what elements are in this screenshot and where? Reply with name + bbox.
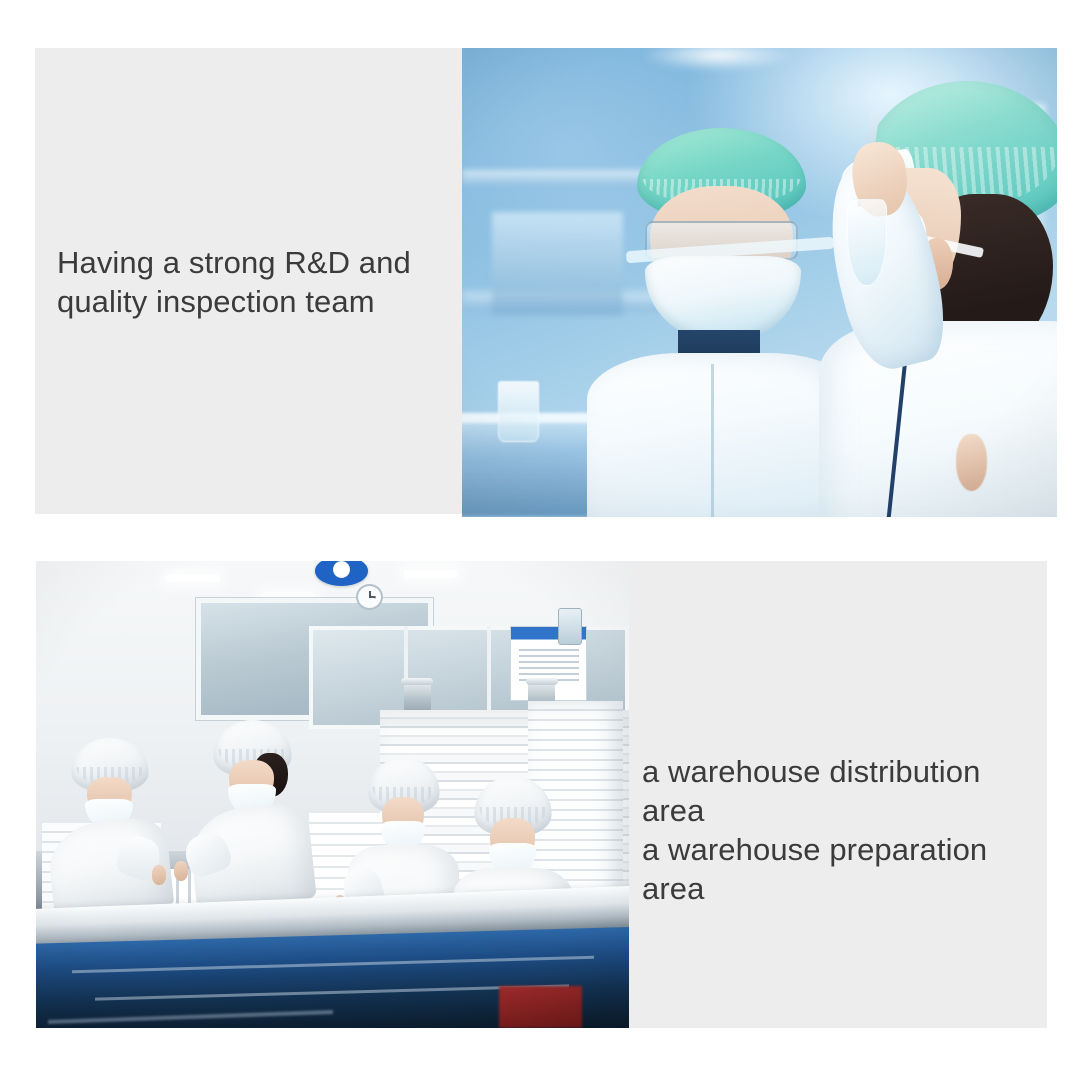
warehouse-areas-caption: a warehouse distribution area a warehous… <box>642 752 1047 908</box>
ceiling-light-3 <box>404 570 457 577</box>
page-root: Having a strong R&D and quality inspecti… <box>0 0 1080 1080</box>
warehouse-worker-1 <box>72 738 149 897</box>
lab-technician-profile <box>807 81 1057 517</box>
worker-hand <box>152 865 166 884</box>
face-mask-icon <box>645 256 801 342</box>
worker-hand <box>174 861 188 881</box>
lower-hand <box>956 434 987 491</box>
lab-ceiling-light <box>641 48 796 71</box>
warehouse-worker-2 <box>214 720 291 888</box>
red-bin <box>499 986 582 1028</box>
ceiling-light-1 <box>166 575 219 582</box>
wall-dispenser <box>558 608 582 645</box>
rnd-quality-caption: Having a strong R&D and quality inspecti… <box>57 243 457 321</box>
warehouse-packing-photo <box>36 561 629 1028</box>
lab-inspection-photo <box>462 48 1057 517</box>
lab-beaker <box>498 381 540 442</box>
